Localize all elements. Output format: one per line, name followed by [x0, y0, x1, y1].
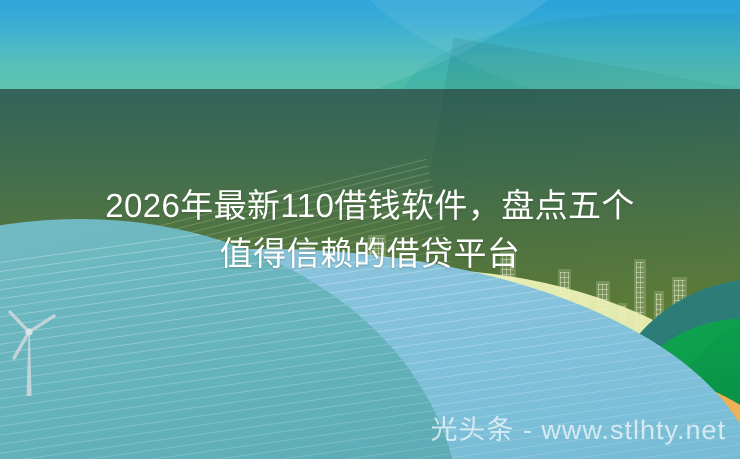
title-line-1: 2026年最新110借钱软件，盘点五个	[0, 182, 740, 230]
cover-title: 2026年最新110借钱软件，盘点五个 值得信赖的借贷平台	[0, 182, 740, 278]
cover-image: 2026年最新110借钱软件，盘点五个 值得信赖的借贷平台 光头条 - www.…	[0, 0, 740, 459]
ripple-line	[0, 309, 460, 459]
title-line-2: 值得信赖的借贷平台	[0, 230, 740, 278]
site-watermark: 光头条 - www.stlhty.net	[430, 413, 726, 447]
wind-turbine-icon	[2, 296, 58, 398]
